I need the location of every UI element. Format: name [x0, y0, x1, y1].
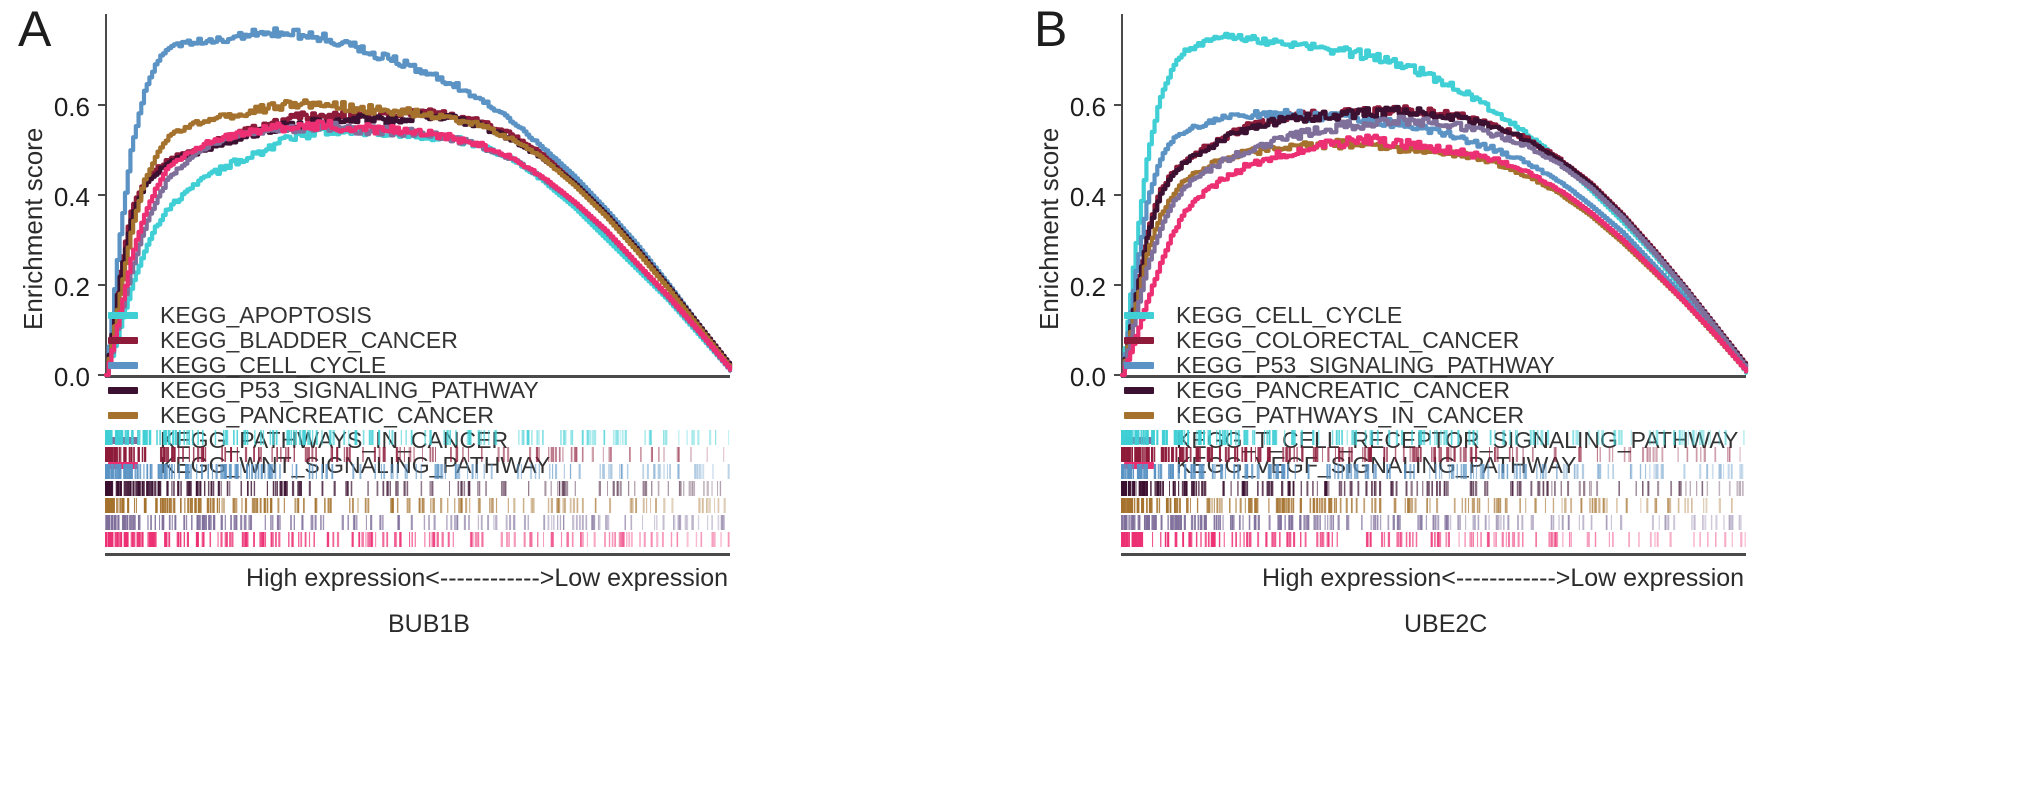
panel-a: A Enrichment score 0.6 0.4 0.2 0.0 KEGG_… [0, 0, 1016, 808]
legend-swatch-icon [108, 312, 138, 319]
legend-item: KEGG_CELL_CYCLE [108, 353, 550, 378]
legend-swatch-icon [1124, 312, 1154, 319]
hit-tick-row [1121, 481, 1744, 496]
hit-tick-row [1121, 532, 1746, 547]
legend-item: KEGG_BLADDER_CANCER [108, 328, 550, 353]
hit-tick-row [1121, 498, 1733, 513]
hit-tick-row [105, 532, 730, 547]
legend-item-label: KEGG_APOPTOSIS [160, 302, 372, 329]
legend-swatch-icon [1124, 362, 1154, 369]
gene-label-b: UBE2C [1404, 610, 1487, 639]
legend-item: KEGG_COLORECTAL_CANCER [1124, 328, 1738, 353]
gene-label-a: BUB1B [388, 610, 470, 639]
x-axis-caption-b: High expression<------------>Low express… [1262, 564, 1744, 593]
legend-item-label: KEGG_BLADDER_CANCER [160, 327, 458, 354]
hit-tick-row [1121, 430, 1745, 445]
legend-item-label: KEGG_PANCREATIC_CANCER [160, 402, 494, 429]
legend-swatch-icon [108, 362, 138, 369]
legend-item: KEGG_P53_SIGNALING_PATHWAY [108, 378, 550, 403]
legend-swatch-icon [1124, 337, 1154, 344]
hit-tick-row [105, 498, 726, 513]
legend-item: KEGG_PANCREATIC_CANCER [1124, 378, 1738, 403]
legend-item-label: KEGG_CELL_CYCLE [1176, 302, 1402, 329]
ticks-baseline-a [105, 553, 730, 556]
legend-item-label: KEGG_PANCREATIC_CANCER [1176, 377, 1510, 404]
hit-tick-row [105, 430, 729, 445]
ticks-baseline-b [1121, 553, 1746, 556]
legend-item-label: KEGG_COLORECTAL_CANCER [1176, 327, 1519, 354]
x-axis-caption-a: High expression<------------>Low express… [246, 564, 728, 593]
legend-swatch-icon [1124, 412, 1154, 419]
hit-tick-row [105, 481, 721, 496]
hit-tick-row [105, 447, 724, 462]
x-caption-right-a: Low expression [554, 564, 728, 592]
x-caption-right-b: Low expression [1570, 564, 1744, 592]
legend-item: KEGG_CELL_CYCLE [1124, 303, 1738, 328]
legend-item: KEGG_P53_SIGNALING_PATHWAY [1124, 353, 1738, 378]
legend-item-label: KEGG_P53_SIGNALING_PATHWAY [160, 377, 539, 404]
x-caption-arrow-a: <------------> [425, 564, 554, 592]
hit-tick-row [1121, 515, 1741, 530]
x-caption-left-a: High expression [246, 564, 425, 592]
legend-item: KEGG_APOPTOSIS [108, 303, 550, 328]
gsea-figure: A Enrichment score 0.6 0.4 0.2 0.0 KEGG_… [0, 0, 2032, 808]
hit-tick-row [1121, 464, 1743, 479]
legend-item-label: KEGG_P53_SIGNALING_PATHWAY [1176, 352, 1555, 379]
legend-item-label: KEGG_CELL_CYCLE [160, 352, 386, 379]
legend-swatch-icon [108, 337, 138, 344]
legend-item: KEGG_PANCREATIC_CANCER [108, 403, 550, 428]
legend-item-label: KEGG_PATHWAYS_IN_CANCER [1176, 402, 1524, 429]
hit-tick-row [105, 515, 725, 530]
hit-tick-row [105, 464, 730, 479]
legend-swatch-icon [108, 412, 138, 419]
legend-item: KEGG_PATHWAYS_IN_CANCER [1124, 403, 1738, 428]
panel-b: B Enrichment score 0.6 0.4 0.2 0.0 KEGG_… [1016, 0, 2032, 808]
legend-swatch-icon [1124, 387, 1154, 394]
hit-tick-row [1121, 447, 1740, 462]
legend-swatch-icon [108, 387, 138, 394]
gene-hit-ticks-b [1121, 430, 1746, 550]
x-caption-arrow-b: <------------> [1441, 564, 1570, 592]
gene-hit-ticks-a [105, 430, 730, 550]
x-caption-left-b: High expression [1262, 564, 1441, 592]
